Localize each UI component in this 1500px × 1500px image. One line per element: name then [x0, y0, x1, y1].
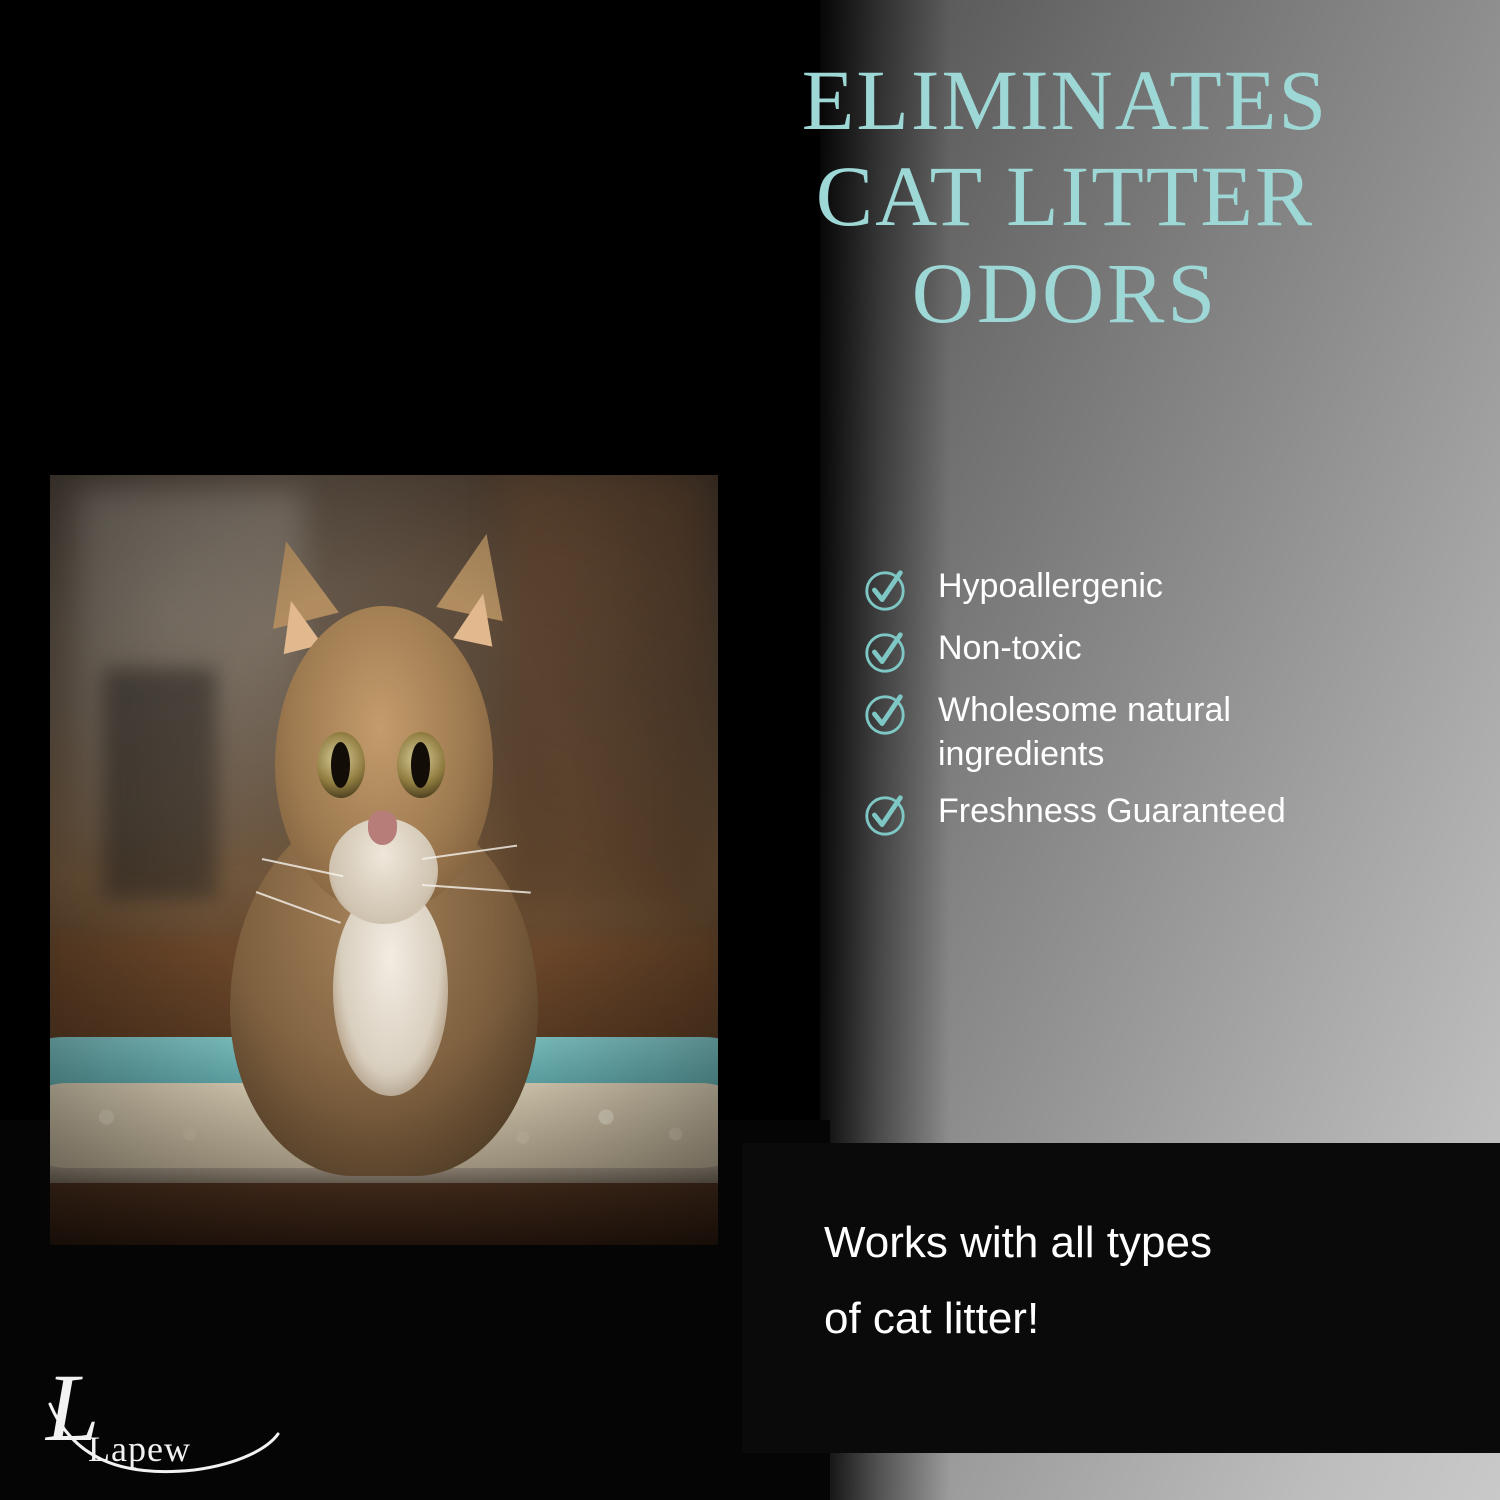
banner-line-2: of cat litter!: [824, 1281, 1464, 1357]
headline-line-1: ELIMINATES: [660, 52, 1470, 148]
headline-line-3: ODORS: [660, 245, 1470, 341]
check-circle-icon: [862, 629, 908, 675]
photo-vignette: [50, 475, 718, 1245]
check-circle-icon: [862, 792, 908, 838]
banner-line-1: Works with all types: [824, 1205, 1464, 1281]
checklist-item-label: Hypoallergenic: [938, 565, 1163, 609]
checklist-item-label: Non-toxic: [938, 627, 1082, 671]
headline: ELIMINATES CAT LITTER ODORS: [660, 52, 1470, 341]
check-circle-icon: [862, 691, 908, 737]
headline-line-2: CAT LITTER: [660, 148, 1470, 244]
kitten-photo: [50, 475, 718, 1245]
brand-logo: L Lapew: [40, 1360, 320, 1480]
logo-wordmark: Lapew: [88, 1428, 191, 1470]
checklist-item: Freshness Guaranteed: [862, 790, 1482, 838]
feature-checklist: Hypoallergenic Non-toxic Wholesome natur…: [862, 565, 1482, 852]
checklist-item: Non-toxic: [862, 627, 1482, 675]
checklist-item-label: Freshness Guaranteed: [938, 790, 1286, 834]
checklist-item: Hypoallergenic: [862, 565, 1482, 613]
check-circle-icon: [862, 567, 908, 613]
promo-graphic: ELIMINATES CAT LITTER ODORS: [0, 0, 1500, 1500]
bottom-banner: Works with all types of cat litter!: [742, 1143, 1500, 1453]
checklist-item: Wholesome natural ingredients: [862, 689, 1482, 776]
banner-text: Works with all types of cat litter!: [824, 1205, 1464, 1356]
checklist-item-label: Wholesome natural ingredients: [938, 689, 1378, 776]
